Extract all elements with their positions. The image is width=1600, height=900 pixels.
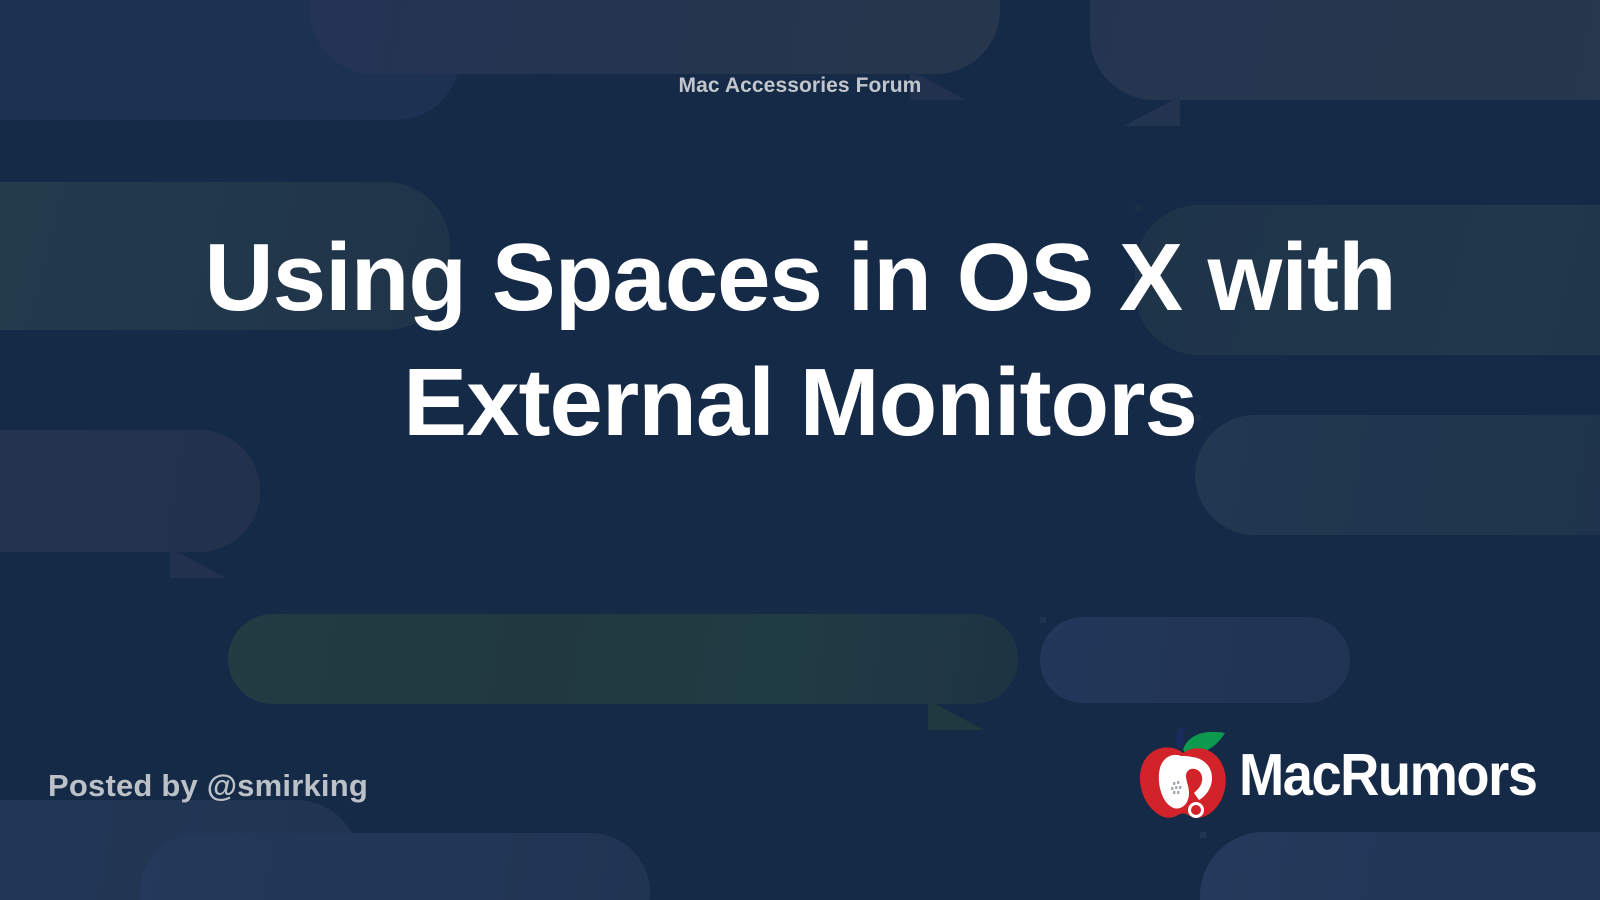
page-title: Using Spaces in OS X with External Monit… (60, 216, 1540, 466)
macrumors-logo: MacRumors (1133, 726, 1562, 824)
social-share-card: Mac Accessories Forum Using Spaces in OS… (0, 0, 1600, 900)
macrumors-wordmark: MacRumors (1239, 746, 1536, 805)
forum-name-label: Mac Accessories Forum (0, 74, 1600, 98)
posted-by-label: Posted by @smirking (48, 768, 368, 804)
card-content: Mac Accessories Forum Using Spaces in OS… (0, 0, 1600, 900)
macrumors-apple-question-mark-icon (1133, 726, 1233, 824)
